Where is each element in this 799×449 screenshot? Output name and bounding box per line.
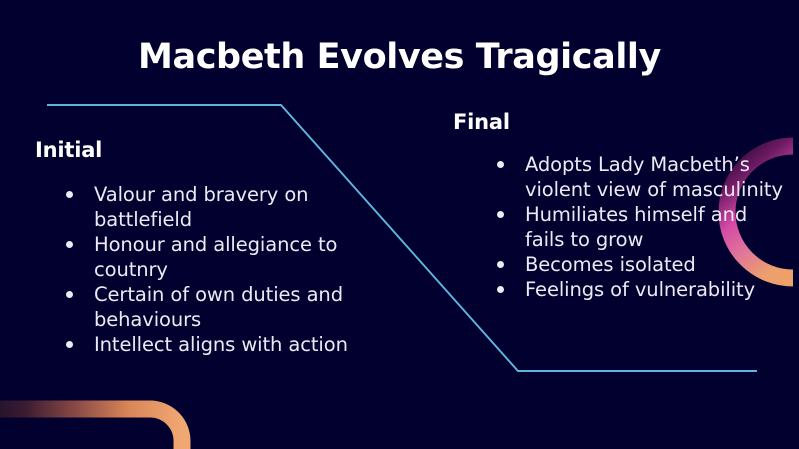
bullet-dot-icon: [66, 341, 73, 348]
column-heading-initial: Initial: [35, 138, 102, 162]
bullet-dot-icon: [66, 291, 73, 298]
list-item: Adopts Lady Macbeth’s violent view of ma…: [497, 152, 783, 202]
list-item: Feelings of vulnerability: [497, 277, 783, 302]
list-item: Valour and bravery on battlefield: [66, 182, 376, 232]
list-item: Intellect aligns with action: [66, 332, 376, 357]
list-item: Certain of own duties and behaviours: [66, 282, 376, 332]
list-item-text: Certain of own duties and behaviours: [94, 283, 343, 331]
bar-accent-icon: [0, 409, 182, 449]
list-item-text: Becomes isolated: [525, 253, 696, 276]
bullet-dot-icon: [497, 261, 504, 268]
bullet-dot-icon: [66, 191, 73, 198]
list-item-text: Feelings of vulnerability: [525, 278, 755, 301]
slide-title: Macbeth Evolves Tragically: [0, 38, 799, 77]
column-heading-final: Final: [453, 110, 510, 134]
bullet-list-final: Adopts Lady Macbeth’s violent view of ma…: [497, 152, 783, 302]
bullet-dot-icon: [497, 286, 504, 293]
presentation-slide: Macbeth Evolves Tragically Initial Valou…: [0, 0, 799, 449]
bullet-dot-icon: [497, 211, 504, 218]
list-item: Honour and allegiance to coutnry: [66, 232, 376, 282]
bullet-dot-icon: [66, 241, 73, 248]
list-item-text: Humiliates himself and fails to grow: [525, 203, 747, 251]
list-item-text: Intellect aligns with action: [94, 333, 348, 356]
list-item: Becomes isolated: [497, 252, 783, 277]
bullet-dot-icon: [497, 161, 504, 168]
list-item-text: Honour and allegiance to coutnry: [94, 233, 337, 281]
list-item-text: Valour and bravery on battlefield: [94, 183, 308, 231]
list-item: Humiliates himself and fails to grow: [497, 202, 783, 252]
list-item-text: Adopts Lady Macbeth’s violent view of ma…: [525, 153, 783, 201]
bullet-list-initial: Valour and bravery on battlefield Honour…: [66, 182, 376, 357]
